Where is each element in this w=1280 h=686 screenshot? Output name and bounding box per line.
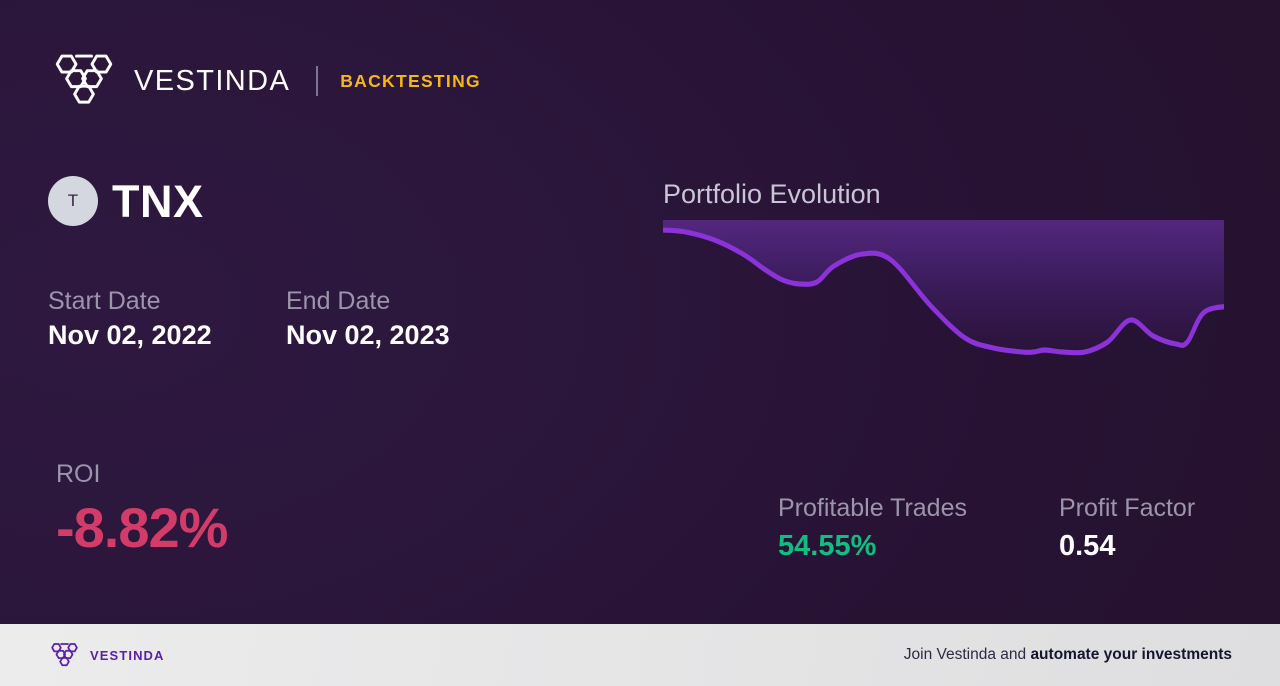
footer-cta: Join Vestinda and automate your investme… bbox=[904, 646, 1232, 664]
backtesting-result-card: VESTINDA BACKTESTING T TNX Start Date No… bbox=[0, 0, 1280, 686]
metrics-row: Profitable Trades 54.55% Profit Factor 0… bbox=[778, 492, 1280, 567]
profit-factor-value: 0.54 bbox=[1059, 525, 1280, 567]
end-date-label: End Date bbox=[286, 285, 476, 317]
avatar: T bbox=[48, 176, 98, 226]
backtesting-badge: BACKTESTING bbox=[340, 71, 481, 92]
divider-icon bbox=[316, 66, 318, 96]
end-date-value: Nov 02, 2023 bbox=[286, 317, 476, 353]
profitable-trades-label: Profitable Trades bbox=[778, 492, 1011, 525]
ticker-symbol: TNX bbox=[112, 179, 204, 224]
end-date-field: End Date Nov 02, 2023 bbox=[286, 285, 476, 353]
footer-brand[interactable]: VESTINDA bbox=[48, 641, 165, 670]
asset-header: T TNX bbox=[48, 176, 204, 226]
chart-canvas bbox=[663, 220, 1233, 430]
vestinda-hex-logo-icon bbox=[48, 641, 81, 670]
start-date-value: Nov 02, 2022 bbox=[48, 317, 238, 353]
footer-cta-bold: automate your investments bbox=[1030, 646, 1232, 663]
date-range: Start Date Nov 02, 2022 End Date Nov 02,… bbox=[48, 285, 476, 353]
start-date-label: Start Date bbox=[48, 285, 238, 317]
chart-title: Portfolio Evolution bbox=[663, 178, 1233, 210]
footer-brand-name: VESTINDA bbox=[90, 648, 165, 663]
roi-value: -8.82% bbox=[56, 497, 227, 559]
roi-label: ROI bbox=[56, 458, 227, 491]
footer: VESTINDA Join Vestinda and automate your… bbox=[0, 624, 1280, 686]
roi-block: ROI -8.82% bbox=[56, 458, 227, 558]
footer-cta-prefix: Join Vestinda and bbox=[904, 646, 1031, 663]
profit-factor-metric: Profit Factor 0.54 bbox=[1059, 492, 1280, 567]
header: VESTINDA BACKTESTING bbox=[48, 48, 481, 114]
profitable-trades-value: 54.55% bbox=[778, 525, 1011, 567]
portfolio-evolution-chart: Portfolio Evolution bbox=[663, 178, 1233, 430]
vestinda-hex-logo-icon bbox=[48, 50, 120, 112]
avatar-letter: T bbox=[68, 191, 78, 211]
brand-name: VESTINDA bbox=[134, 65, 290, 98]
profitable-trades-metric: Profitable Trades 54.55% bbox=[778, 492, 1011, 567]
start-date-field: Start Date Nov 02, 2022 bbox=[48, 285, 238, 353]
profit-factor-label: Profit Factor bbox=[1059, 492, 1280, 525]
